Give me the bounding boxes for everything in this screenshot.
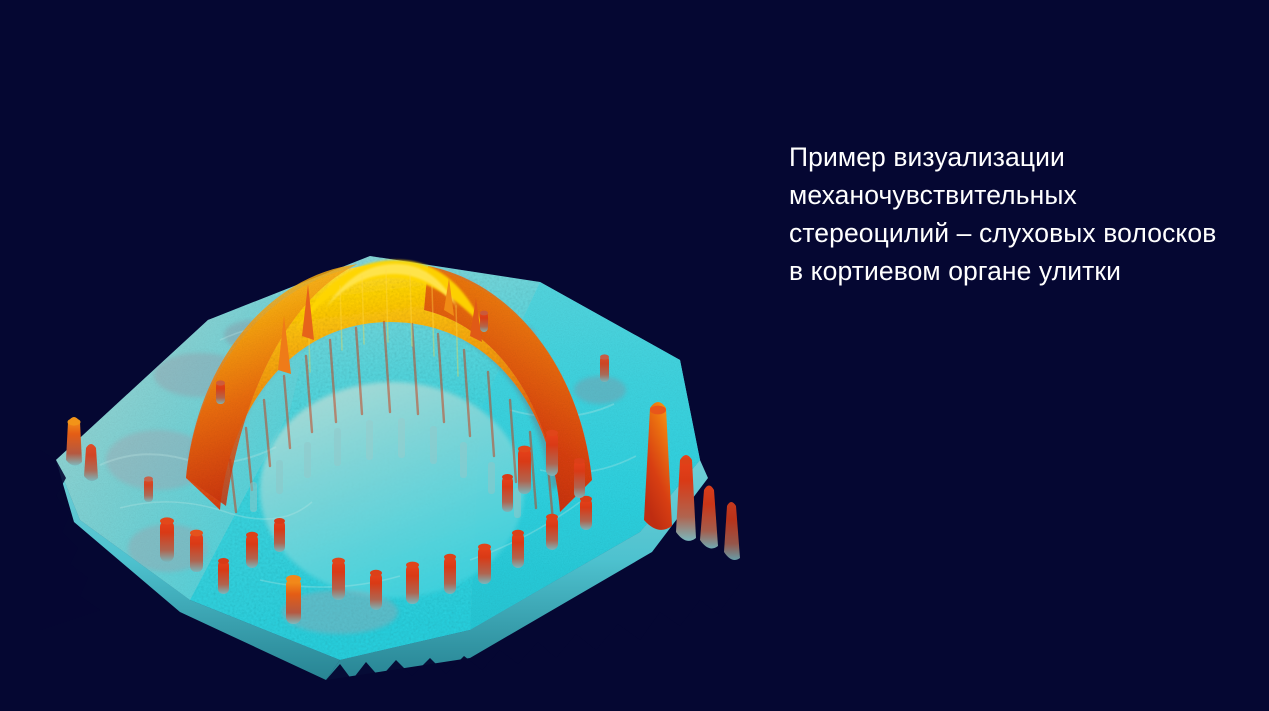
surface-render-svg — [40, 160, 740, 690]
stereocilia-3d-figure — [40, 160, 740, 690]
slide-canvas: Пример визуализации механочувствительных… — [0, 0, 1269, 711]
slide-caption: Пример визуализации механочувствительных… — [789, 138, 1219, 290]
